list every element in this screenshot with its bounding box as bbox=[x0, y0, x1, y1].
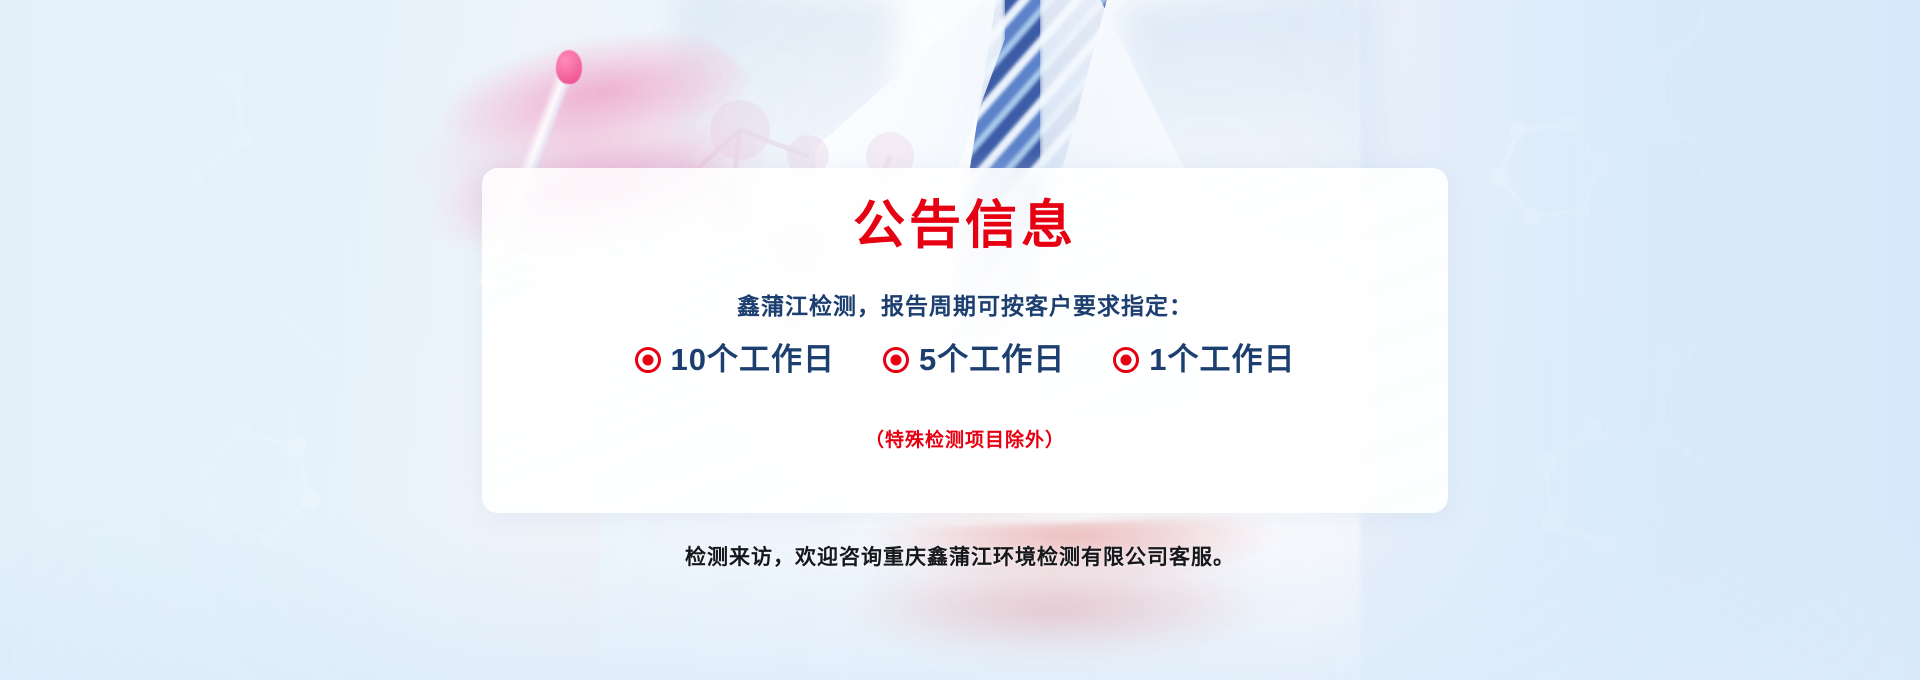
radio-filled-icon bbox=[883, 347, 909, 373]
bottom-edge-fade bbox=[0, 510, 1920, 680]
announcement-note: （特殊检测项目除外） bbox=[482, 428, 1448, 454]
turnaround-option-list: 10个工作日 5个工作日 1个工作日 bbox=[482, 343, 1448, 377]
announcement-subtitle: 鑫蒲江检测，报告周期可按客户要求指定： bbox=[482, 290, 1448, 322]
radio-filled-icon bbox=[1113, 347, 1139, 373]
footer-contact-text: 检测来访，欢迎咨询重庆鑫蒲江环境检测有限公司客服。 bbox=[0, 543, 1920, 573]
pipette-bulb-icon bbox=[556, 50, 582, 84]
turnaround-option[interactable]: 5个工作日 bbox=[883, 343, 1065, 377]
announcement-title: 公告信息 bbox=[482, 196, 1448, 256]
turnaround-option-label: 10个工作日 bbox=[671, 343, 835, 377]
turnaround-option[interactable]: 1个工作日 bbox=[1113, 343, 1295, 377]
turnaround-option-label: 5个工作日 bbox=[919, 343, 1065, 377]
turnaround-option[interactable]: 10个工作日 bbox=[635, 343, 835, 377]
turnaround-option-label: 1个工作日 bbox=[1149, 343, 1295, 377]
announcement-card: 公告信息 鑫蒲江检测，报告周期可按客户要求指定： 10个工作日 5个工作日 1个… bbox=[482, 168, 1448, 513]
radio-filled-icon bbox=[635, 347, 661, 373]
announcement-banner: 公告信息 鑫蒲江检测，报告周期可按客户要求指定： 10个工作日 5个工作日 1个… bbox=[0, 0, 1920, 680]
